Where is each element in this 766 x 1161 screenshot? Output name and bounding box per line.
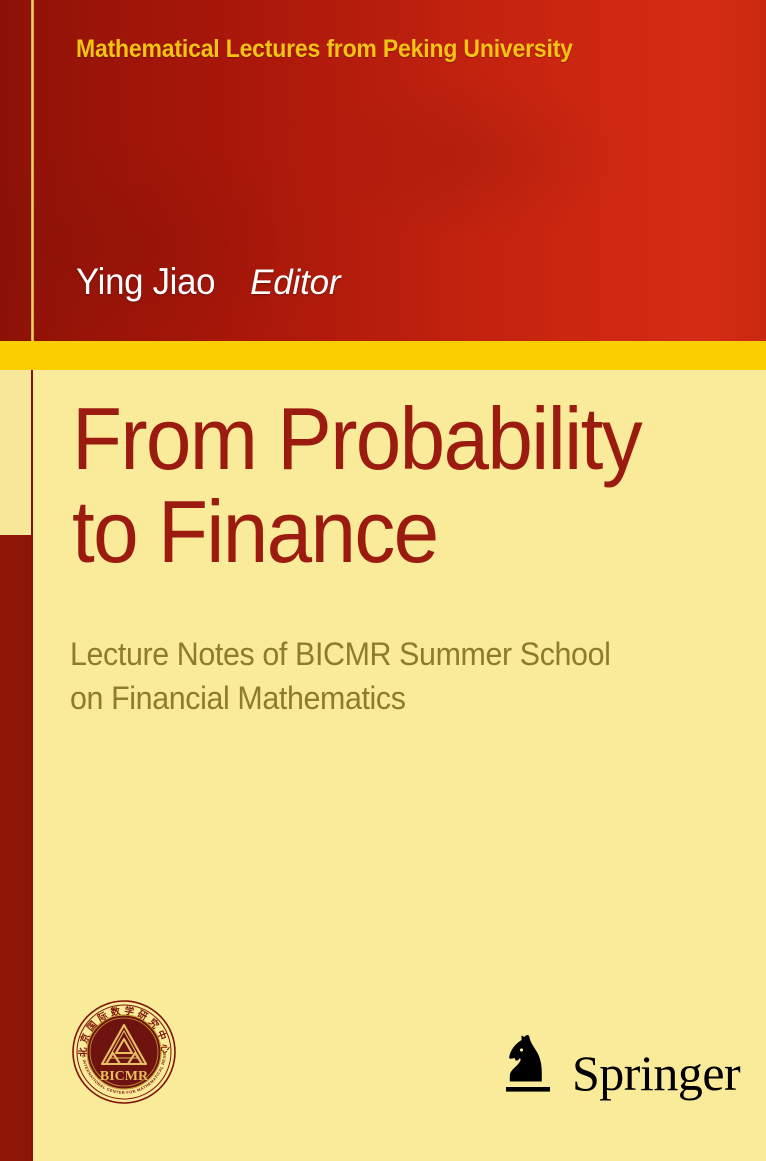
- bicmr-seal-icon: BICMR 北京国际数学研究中心 BEIJING INTERNATIONAL C…: [70, 998, 178, 1106]
- spine-red-block: [0, 535, 31, 1161]
- subtitle-line-1: Lecture Notes of BICMR Summer School: [70, 636, 610, 672]
- title-line-1: From Probability: [72, 389, 641, 488]
- left-margin-tint: [0, 370, 31, 535]
- springer-wordmark: Springer: [572, 1048, 740, 1098]
- springer-knight-icon: [500, 1032, 558, 1094]
- spine-gold-rule: [31, 0, 34, 341]
- springer-logo: Springer: [500, 1032, 740, 1094]
- bicmr-acronym-text: BICMR: [100, 1069, 149, 1084]
- editor-role: Editor: [250, 263, 340, 303]
- bicmr-logo: BICMR 北京国际数学研究中心 BEIJING INTERNATIONAL C…: [70, 998, 178, 1106]
- title-line-2: to Finance: [72, 485, 686, 578]
- spine-dark-rule: [31, 370, 33, 1161]
- page-title: From Probability to Finance: [72, 392, 686, 578]
- subtitle-line-2: on Financial Mathematics: [70, 676, 697, 720]
- page-subtitle: Lecture Notes of BICMR Summer School on …: [70, 632, 697, 720]
- series-title: Mathematical Lectures from Peking Univer…: [76, 35, 573, 64]
- gold-divider-band: [0, 341, 766, 370]
- book-cover: Mathematical Lectures from Peking Univer…: [0, 0, 766, 1161]
- editor-name: Ying Jiao: [76, 261, 215, 303]
- editor-byline: Ying JiaoEditor: [76, 261, 340, 303]
